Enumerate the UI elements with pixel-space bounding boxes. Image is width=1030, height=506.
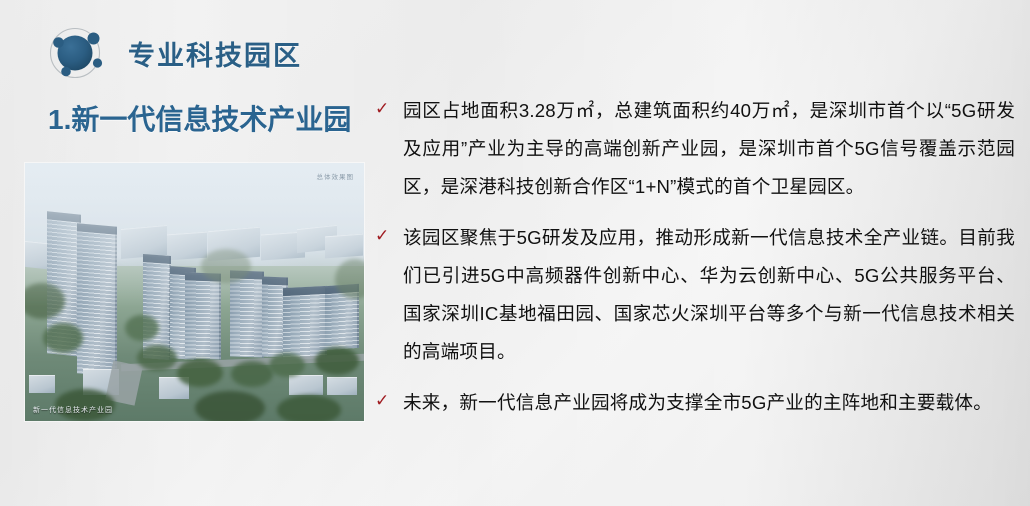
list-item: ✓ 园区占地面积3.28万㎡，总建筑面积约40万㎡，是深圳市首个以“5G研发及应… xyxy=(375,92,1015,206)
image-caption: 新一代信息技术产业园 xyxy=(33,405,113,415)
slide-canvas: 专业科技园区 1.新一代信息技术产业园 xyxy=(0,0,1030,506)
list-item: ✓ 未来，新一代信息产业园将成为支撑全市5G产业的主阵地和主要载体。 xyxy=(375,384,1015,422)
image-tree-cluster xyxy=(125,315,159,341)
image-foreground-block xyxy=(29,375,55,393)
list-item-text: 园区占地面积3.28万㎡，总建筑面积约40万㎡，是深圳市首个以“5G研发及应用”… xyxy=(403,92,1015,206)
image-tree-cluster xyxy=(195,391,265,421)
image-tree-cluster xyxy=(137,345,177,371)
image-watermark: 总体效果图 xyxy=(317,171,355,181)
image-tree-cluster xyxy=(315,347,359,375)
image-tower xyxy=(185,272,221,359)
image-tower xyxy=(77,223,117,376)
image-tower-facade xyxy=(77,231,117,376)
image-tree-cluster xyxy=(43,323,83,353)
checkmark-icon: ✓ xyxy=(375,384,403,418)
page-title: 1.新一代信息技术产业园 xyxy=(48,98,351,138)
image-tree-cluster xyxy=(277,395,341,421)
image-tower-facade xyxy=(185,280,221,359)
slide-header: 专业科技园区 xyxy=(44,22,302,84)
bullet-list: ✓ 园区占地面积3.28万㎡，总建筑面积约40万㎡，是深圳市首个以“5G研发及应… xyxy=(375,92,1015,435)
image-tower xyxy=(230,270,264,357)
image-tower xyxy=(283,286,327,360)
section-title: 专业科技园区 xyxy=(128,34,302,73)
image-tree-cluster xyxy=(177,359,223,387)
image-tree-cluster xyxy=(269,353,305,377)
list-item-text: 未来，新一代信息产业园将成为支撑全市5G产业的主阵地和主要载体。 xyxy=(403,384,1015,422)
image-far-block xyxy=(167,232,207,261)
image-foreground-block xyxy=(289,375,323,395)
image-foreground-block xyxy=(327,377,357,395)
list-item: ✓ 该园区聚焦于5G研发及应用，推动形成新一代信息技术全产业链。目前我们已引进5… xyxy=(375,219,1015,371)
list-item-text: 该园区聚焦于5G研发及应用，推动形成新一代信息技术全产业链。目前我们已引进5G中… xyxy=(403,219,1015,371)
image-tree-cluster xyxy=(231,361,273,387)
checkmark-icon: ✓ xyxy=(375,219,403,253)
image-far-block xyxy=(325,234,363,259)
checkmark-icon: ✓ xyxy=(375,92,403,126)
four-node-circle-logo-icon xyxy=(44,22,106,84)
aerial-rendering-image: 总体效果图 新一代信息技术产业园 xyxy=(25,163,364,421)
image-tree-cluster xyxy=(201,249,251,283)
image-tower-facade xyxy=(230,278,264,357)
image-tower-facade xyxy=(325,292,359,350)
